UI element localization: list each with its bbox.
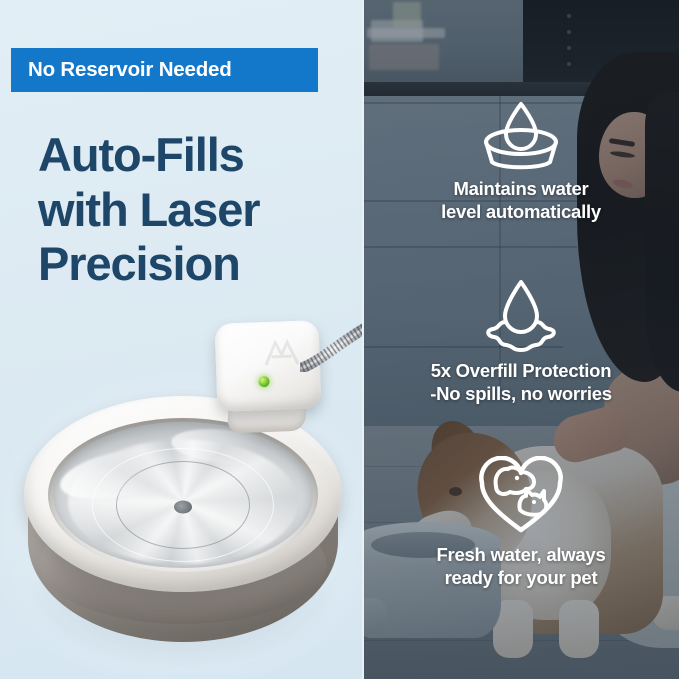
feature-2-text: 5x Overfill Protection -No spills, no wo…: [430, 360, 612, 405]
feature-2-line-1: 5x Overfill Protection: [431, 360, 612, 381]
panel-divider: [362, 0, 364, 679]
headline-line-1: Auto-Fills: [38, 128, 358, 183]
badge-label: No Reservoir Needed: [28, 58, 232, 82]
feature-item-3: Fresh water, always ready for your pet: [363, 456, 679, 589]
braided-hose: [300, 320, 363, 372]
page-title: Auto-Fills with Laser Precision: [38, 128, 358, 292]
water-drop-spill-icon: [478, 276, 564, 352]
brand-logo-icon: [259, 334, 304, 374]
dog-cat-heart-icon: [476, 456, 566, 536]
feature-1-line-2: level automatically: [441, 201, 601, 222]
left-panel: No Reservoir Needed Auto-Fills with Lase…: [0, 0, 363, 679]
no-reservoir-badge: No Reservoir Needed: [11, 48, 318, 92]
feature-item-1: Maintains water level automatically: [363, 96, 679, 223]
fountain-nozzle: [174, 500, 192, 513]
feature-1-line-1: Maintains water: [453, 178, 588, 199]
led-indicator: [258, 376, 269, 387]
feature-item-2: 5x Overfill Protection -No spills, no wo…: [363, 276, 679, 405]
right-panel-lifestyle-photo: Maintains water level automatically 5x O…: [363, 0, 679, 679]
headline-line-3: Precision: [38, 237, 358, 292]
feature-1-text: Maintains water level automatically: [441, 178, 601, 223]
water-drop-over-bowl-icon: [478, 96, 564, 172]
feature-3-text: Fresh water, always ready for your pet: [436, 544, 605, 589]
product-image-fountain: [8, 322, 363, 679]
product-feature-infographic: No Reservoir Needed Auto-Fills with Lase…: [0, 0, 679, 679]
feature-3-line-2: ready for your pet: [445, 567, 598, 588]
water-surface: [53, 422, 313, 568]
feature-3-line-1: Fresh water, always: [436, 544, 605, 565]
headline-line-2: with Laser: [38, 183, 358, 238]
feature-2-line-2: -No spills, no worries: [430, 383, 612, 404]
